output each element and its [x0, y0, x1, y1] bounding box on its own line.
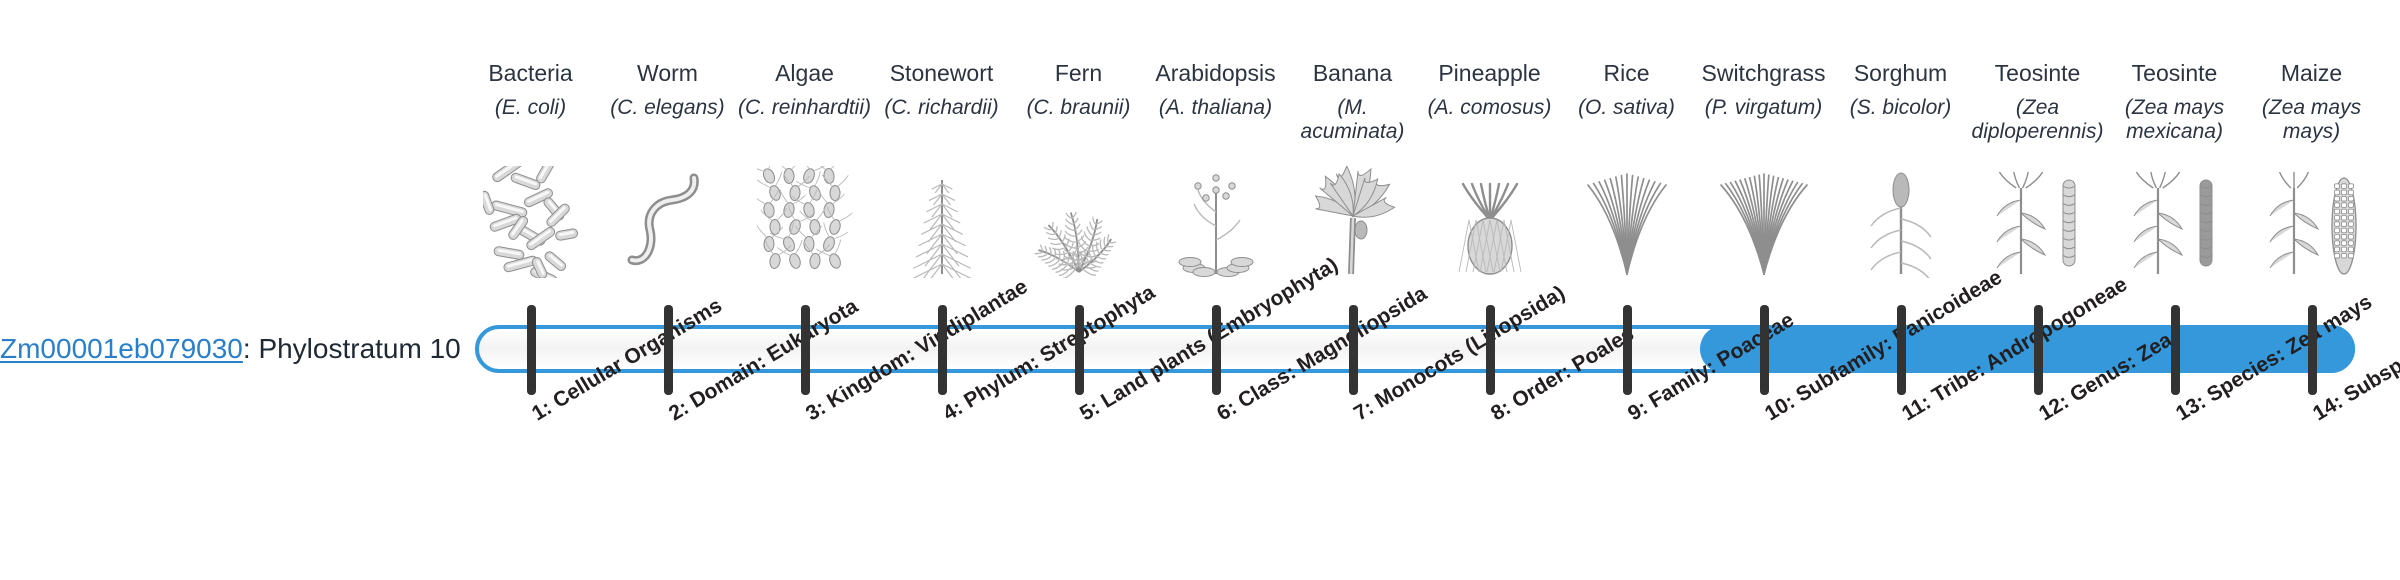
species-common-name: Bacteria — [462, 60, 599, 86]
species-scientific-name: (A. comosus) — [1421, 96, 1558, 120]
gene-label-separator: : — [243, 333, 259, 364]
teosinte-diplo-icon — [1969, 168, 2106, 278]
species-scientific-name: (Zea mays mays) — [2243, 96, 2380, 143]
species-scientific-name: (C. reinhardtii) — [736, 96, 873, 120]
species-column: Sorghum(S. bicolor) — [1832, 0, 1969, 580]
species-scientific-name: (Zea mays mexicana) — [2106, 96, 2243, 143]
species-column: Worm(C. elegans) — [599, 0, 736, 580]
species-common-name: Banana — [1284, 60, 1421, 86]
species-common-name: Teosinte — [1969, 60, 2106, 86]
worm-icon — [599, 168, 736, 278]
species-common-name: Sorghum — [1832, 60, 1969, 86]
species-column: Stonewort(C. richardii) — [873, 0, 1010, 580]
species-scientific-name: (O. sativa) — [1558, 96, 1695, 120]
species-common-name: Worm — [599, 60, 736, 86]
species-columns: Bacteria(E. coli)Worm(C. elegans)Algae(C… — [462, 0, 2342, 580]
species-common-name: Arabidopsis — [1147, 60, 1284, 86]
species-column: Banana(M. acuminata) — [1284, 0, 1421, 580]
gene-id-link[interactable]: Zm00001eb079030 — [0, 333, 243, 364]
species-common-name: Fern — [1010, 60, 1147, 86]
species-column: Pineapple(A. comosus) — [1421, 0, 1558, 580]
species-common-name: Switchgrass — [1695, 60, 1832, 86]
species-scientific-name: (E. coli) — [462, 96, 599, 120]
species-scientific-name: (P. virgatum) — [1695, 96, 1832, 120]
species-column: Switchgrass(P. virgatum) — [1695, 0, 1832, 580]
teosinte-mex-icon — [2106, 168, 2243, 278]
species-column: Rice(O. sativa) — [1558, 0, 1695, 580]
species-scientific-name: (Zea diploperennis) — [1969, 96, 2106, 143]
species-column: Fern(C. braunii) — [1010, 0, 1147, 580]
species-scientific-name: (C. braunii) — [1010, 96, 1147, 120]
gene-phylostratum-label: Zm00001eb079030: Phylostratum 10 — [0, 334, 452, 365]
phylostratum-value-text: Phylostratum 10 — [258, 333, 460, 364]
species-common-name: Algae — [736, 60, 873, 86]
arabidopsis-icon — [1147, 168, 1284, 278]
species-common-name: Pineapple — [1421, 60, 1558, 86]
species-column: Teosinte(Zea diploperennis) — [1969, 0, 2106, 580]
bar-fill — [1700, 325, 2355, 373]
phylostratum-bar — [475, 325, 2355, 373]
species-scientific-name: (A. thaliana) — [1147, 96, 1284, 120]
banana-icon — [1284, 168, 1421, 278]
species-column: Arabidopsis(A. thaliana) — [1147, 0, 1284, 580]
species-column: Bacteria(E. coli) — [462, 0, 599, 580]
switchgrass-icon — [1695, 168, 1832, 278]
species-common-name: Rice — [1558, 60, 1695, 86]
stonewort-icon — [873, 168, 1010, 278]
species-column: Algae(C. reinhardtii) — [736, 0, 873, 580]
phylostratum-figure: Zm00001eb079030: Phylostratum 10 Bacteri… — [0, 0, 2400, 580]
species-scientific-name: (S. bicolor) — [1832, 96, 1969, 120]
algae-icon — [736, 168, 873, 278]
species-column: Maize(Zea mays mays) — [2243, 0, 2380, 580]
species-common-name: Maize — [2243, 60, 2380, 86]
bacteria-icon — [462, 168, 599, 278]
species-scientific-name: (C. richardii) — [873, 96, 1010, 120]
fern-icon — [1010, 168, 1147, 278]
rice-icon — [1558, 168, 1695, 278]
species-column: Teosinte(Zea mays mexicana) — [2106, 0, 2243, 580]
sorghum-icon — [1832, 168, 1969, 278]
species-common-name: Teosinte — [2106, 60, 2243, 86]
pineapple-icon — [1421, 168, 1558, 278]
species-common-name: Stonewort — [873, 60, 1010, 86]
species-scientific-name: (C. elegans) — [599, 96, 736, 120]
maize-icon — [2243, 168, 2380, 278]
species-scientific-name: (M. acuminata) — [1284, 96, 1421, 143]
